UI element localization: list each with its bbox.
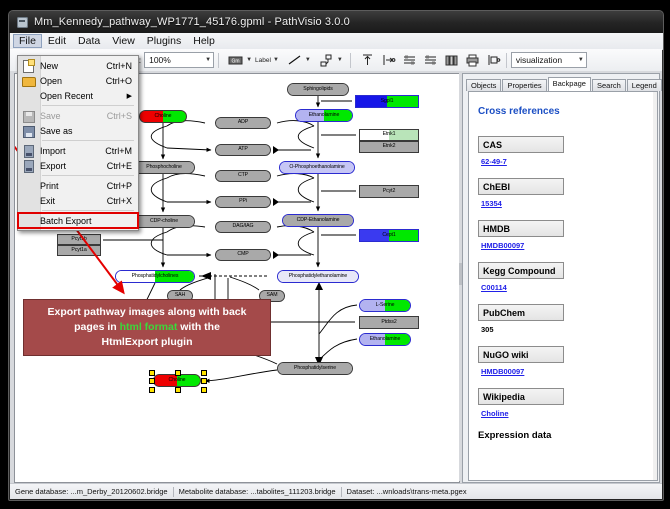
xref-value-kegg[interactable]: C00114 (481, 283, 507, 292)
title-bar: Mm_Kennedy_pathway_WP1771_45176.gpml - P… (9, 11, 663, 33)
node-label: Etnk2 (383, 144, 396, 149)
metabolite-node[interactable]: PPi (215, 196, 271, 208)
gene-node[interactable]: Etnk2 (359, 141, 419, 153)
menu-item-open-recent[interactable]: Open Recent ▶ (18, 88, 138, 103)
handle-e[interactable] (201, 378, 207, 384)
tab-legend[interactable]: Legend (627, 79, 662, 91)
cross-references-heading: Cross references (478, 106, 560, 117)
window-title: Mm_Kennedy_pathway_WP1771_45176.gpml - P… (34, 16, 350, 28)
node-label: CDP-Ethanolamine (297, 218, 340, 223)
menu-item-open-label: Open (40, 76, 106, 86)
metabolite-node[interactable]: DAG/IAG (215, 221, 271, 233)
xref-label-hmdb: HMDB (478, 220, 564, 237)
menu-item-exit-label: Exit (40, 196, 107, 206)
line-dropdown-icon[interactable]: ▼ (305, 57, 311, 63)
chevron-down-icon: ▼ (578, 57, 584, 63)
line-tool[interactable] (286, 52, 303, 69)
same-width-icon[interactable] (443, 52, 460, 69)
xref-value-hmdb[interactable]: HMDB00097 (481, 241, 524, 250)
submenu-arrow-icon: ▶ (127, 92, 138, 100)
export-icon (18, 158, 40, 173)
handle-nw[interactable] (149, 370, 155, 376)
handle-sw[interactable] (149, 387, 155, 393)
node-label: Cept1 (382, 233, 395, 238)
menu-item-print-accel: Ctrl+P (107, 181, 138, 191)
menu-item-print-label: Print (40, 181, 107, 191)
node-label: Sgpl1 (381, 99, 394, 104)
distribute-horizontal-icon[interactable] (401, 52, 418, 69)
gene-node[interactable]: Pcyt2 (359, 185, 419, 198)
handle-n[interactable] (175, 370, 181, 376)
menu-bar: File Edit Data View Plugins Help (10, 33, 664, 50)
menu-item-import-accel: Ctrl+M (105, 146, 138, 156)
save-disk-icon (18, 108, 40, 123)
tab-objects[interactable]: Objects (466, 79, 501, 91)
label-dropdown-icon[interactable]: ▼ (273, 57, 279, 63)
callout-line-3: HtmlExport plugin (48, 335, 247, 350)
menu-item-export-label: Export (40, 161, 107, 171)
node-label: SAH (175, 293, 185, 298)
metabolite-node[interactable]: CDP-Ethanolamine (282, 214, 354, 227)
label-tool[interactable]: Label (255, 57, 271, 64)
interaction-dropdown-icon[interactable]: ▼ (337, 57, 343, 63)
node-label: Phosphatidylethanolamine (289, 274, 347, 279)
gene-product-dropdown-icon[interactable]: ▼ (246, 57, 252, 63)
metabolite-node[interactable]: O-Phosphoethanolamine (279, 161, 355, 174)
chevron-down-icon: ▼ (205, 57, 211, 63)
menu-file[interactable]: File (13, 34, 42, 48)
metabolite-node[interactable]: Phosphatidylethanolamine (277, 270, 359, 283)
application-window: Mm_Kennedy_pathway_WP1771_45176.gpml - P… (8, 10, 664, 501)
backpage-scrollbar[interactable] (653, 92, 657, 480)
menu-item-save-accel: Ctrl+S (107, 111, 138, 121)
gene-node[interactable]: Cept1 (359, 229, 419, 242)
metabolite-node[interactable]: Ethanolamine (359, 333, 411, 346)
selection-handles[interactable] (149, 370, 205, 391)
callout-line-2b: with the (177, 321, 220, 333)
menu-plugins[interactable]: Plugins (141, 34, 187, 48)
metabolite-node[interactable]: CTP (215, 170, 271, 182)
status-dataset: Dataset: ...wnloads\trans-meta.pgex (342, 487, 472, 496)
xref-value-chebi[interactable]: 15354 (481, 199, 502, 208)
xref-label-nugo: NuGO wiki (478, 346, 564, 363)
metabolite-node[interactable]: Choline (139, 110, 187, 123)
status-metabolite-database: Metabolite database: ...tabolites_111203… (174, 487, 341, 496)
menu-item-import[interactable]: Import Ctrl+M (18, 143, 138, 158)
node-fill-right (243, 197, 270, 207)
align-left-icon[interactable] (380, 52, 397, 69)
same-height-icon[interactable] (422, 52, 439, 69)
menu-item-open-recent-label: Open Recent (40, 91, 127, 101)
node-label: ADP (238, 120, 248, 125)
status-bar: Gene database: ...m_Derby_20120602.bridg… (10, 483, 662, 499)
xref-value-wikipedia[interactable]: Choline (481, 409, 509, 418)
metabolite-node[interactable]: ADP (215, 117, 271, 129)
annotation-callout: Export pathway images along with back pa… (23, 299, 271, 356)
open-folder-icon (18, 73, 40, 88)
status-gene-database: Gene database: ...m_Derby_20120602.bridg… (10, 487, 173, 496)
gene-node[interactable]: Pcyt1b (57, 234, 101, 245)
menu-item-batch-export[interactable]: Batch Export (18, 213, 138, 228)
expression-data-heading: Expression data (478, 430, 551, 441)
node-label: Pcyt1b (71, 237, 86, 242)
menu-item-save-label: Save (40, 111, 107, 121)
menu-edit[interactable]: Edit (42, 34, 72, 48)
callout-line-1: Export pathway images along with back (48, 305, 247, 320)
zoom-value: 100% (149, 55, 171, 65)
menu-item-export-accel: Ctrl+E (107, 161, 138, 171)
node-label: PPi (239, 199, 247, 204)
visualization-value: visualization (516, 55, 562, 65)
menu-view[interactable]: View (106, 34, 141, 48)
gene-node[interactable]: Etnk1 (359, 129, 419, 141)
node-label: ATP (238, 147, 247, 152)
menu-item-open[interactable]: Open Ctrl+O (18, 73, 138, 88)
menu-item-exit[interactable]: Exit Ctrl+X (18, 193, 138, 208)
menu-item-batch-export-label: Batch Export (40, 216, 132, 226)
xref-label-chebi: ChEBI (478, 178, 564, 195)
handle-w[interactable] (149, 378, 155, 384)
tab-properties[interactable]: Properties (502, 79, 546, 91)
menu-data[interactable]: Data (72, 34, 106, 48)
tab-backpage[interactable]: Backpage (548, 77, 591, 91)
node-label: Sphingolipids (303, 87, 333, 92)
node-label: Phosphatidylserine (294, 366, 336, 371)
node-label: CDP-choline (150, 219, 178, 224)
menu-item-print[interactable]: Print Ctrl+P (18, 178, 138, 193)
node-label: O-Phosphoethanolamine (289, 165, 344, 170)
menu-item-import-label: Import (40, 146, 105, 156)
handle-ne[interactable] (201, 370, 207, 376)
file-menu-dropdown[interactable]: New Ctrl+N Open Ctrl+O Open Recent ▶ Sav… (17, 55, 139, 231)
menu-item-exit-accel: Ctrl+X (107, 196, 138, 206)
menu-item-export[interactable]: Export Ctrl+E (18, 158, 138, 173)
import-icon (18, 143, 40, 158)
backpage-content[interactable]: Cross references CAS 62-49-7 ChEBI 15354… (468, 91, 658, 481)
print-icon[interactable] (464, 52, 481, 69)
menu-item-save: Save Ctrl+S (18, 108, 138, 123)
node-label: Ethanolamine (309, 113, 340, 118)
handle-s[interactable] (175, 387, 181, 393)
xref-value-pubchem: 305 (481, 325, 494, 334)
metabolite-node[interactable]: Sphingolipids (287, 83, 349, 96)
align-top-icon[interactable] (359, 52, 376, 69)
xref-label-kegg: Kegg Compound (478, 262, 564, 279)
metabolite-node[interactable]: CMP (215, 249, 271, 261)
node-label: Ethanolamine (370, 337, 401, 342)
node-label: Etnk1 (383, 132, 396, 137)
gene-product-tool[interactable]: Gm (227, 52, 244, 69)
zoom-combo[interactable]: 100% ▼ (144, 52, 214, 68)
handle-se[interactable] (201, 387, 207, 393)
xref-value-cas[interactable]: 62-49-7 (481, 157, 507, 166)
xref-value-nugo[interactable]: HMDB00097 (481, 367, 524, 376)
tab-search[interactable]: Search (592, 79, 626, 91)
visualization-combo[interactable]: visualization ▼ (511, 52, 587, 68)
menu-item-new-accel: Ctrl+N (106, 61, 138, 71)
node-label: SAM (267, 293, 278, 298)
xref-label-cas: CAS (478, 136, 564, 153)
node-label: Phosphatidylcholines (132, 274, 179, 279)
metabolite-node[interactable]: CDP-choline (133, 215, 195, 228)
metabolite-node[interactable]: Phosphocholine (133, 161, 195, 174)
menu-help[interactable]: Help (187, 34, 221, 48)
node-label: Phosphocholine (146, 165, 182, 170)
new-document-icon (18, 58, 40, 73)
menu-item-save-as[interactable]: Save as (18, 123, 138, 138)
metabolite-node[interactable]: Ethanolamine (295, 109, 353, 122)
interaction-tool[interactable] (318, 52, 335, 69)
menu-item-save-as-label: Save as (40, 126, 132, 136)
node-label: CTP (238, 173, 248, 178)
gene-node[interactable]: Pcyt1a (57, 245, 101, 256)
node-label: Pcyt2 (383, 189, 395, 194)
gene-node[interactable]: Sgpl1 (355, 95, 419, 108)
callout-highlight: html format (120, 321, 178, 333)
menu-item-open-accel: Ctrl+O (106, 76, 138, 86)
menu-item-new-label: New (40, 61, 106, 71)
node-label: Pcyt1a (71, 248, 86, 253)
menu-item-new[interactable]: New Ctrl+N (18, 58, 138, 73)
xref-label-pubchem: PubChem (478, 304, 564, 321)
xref-label-wikipedia: Wikipedia (478, 388, 564, 405)
metabolite-node[interactable]: L-Serine (359, 299, 411, 312)
metabolite-node[interactable]: ATP (215, 144, 271, 156)
node-label: CMP (237, 252, 248, 257)
save-as-icon (18, 123, 40, 138)
gene-node[interactable]: Ptdss2 (359, 316, 419, 329)
side-panel: Objects Properties Backpage Search Legen… (462, 73, 660, 483)
node-label: Choline (155, 114, 172, 119)
side-panel-tabs: Objects Properties Backpage Search Legen… (466, 77, 656, 91)
stack-center-icon[interactable] (485, 52, 502, 69)
metabolite-node[interactable]: Phosphatidylserine (277, 362, 353, 375)
node-label: L-Serine (376, 303, 395, 308)
node-label: DAG/IAG (233, 224, 254, 229)
metabolite-node[interactable]: Phosphatidylcholines (115, 270, 195, 283)
svg-text:Gm: Gm (232, 58, 240, 64)
callout-line-2a: pages in (74, 321, 120, 333)
node-label: Ptdss2 (381, 320, 396, 325)
pathvisio-icon (17, 17, 28, 28)
